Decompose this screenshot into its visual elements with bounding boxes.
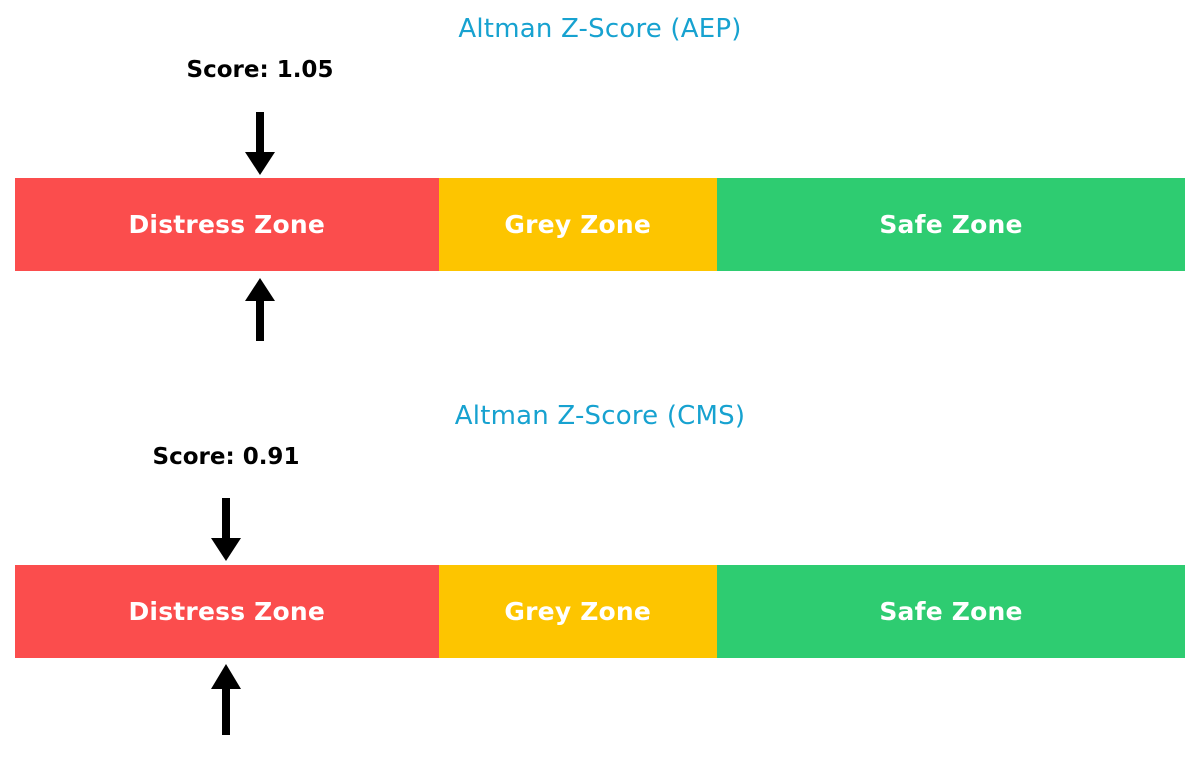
score-label-cms: Score: 0.91: [153, 444, 300, 470]
z-score-gauge-page: Altman Z-Score (AEP) Score: 1.05 Distres…: [0, 0, 1200, 774]
down-arrow-icon-cms: [209, 498, 243, 562]
zone-label-grey-cms: Grey Zone: [504, 597, 651, 626]
zone-segment-grey-aep: Grey Zone: [439, 178, 717, 271]
zone-bar-aep: Distress Zone Grey Zone Safe Zone: [15, 178, 1185, 271]
zone-segment-safe-aep: Safe Zone: [717, 178, 1185, 271]
zone-segment-grey-cms: Grey Zone: [439, 565, 717, 658]
zone-label-safe-cms: Safe Zone: [879, 597, 1022, 626]
page-title-aep: Altman Z-Score (AEP): [0, 14, 1200, 44]
zone-label-distress-aep: Distress Zone: [128, 210, 325, 239]
zone-segment-safe-cms: Safe Zone: [717, 565, 1185, 658]
zone-label-distress-cms: Distress Zone: [128, 597, 325, 626]
zone-bar-cms: Distress Zone Grey Zone Safe Zone: [15, 565, 1185, 658]
zone-label-safe-aep: Safe Zone: [879, 210, 1022, 239]
zone-segment-distress-cms: Distress Zone: [15, 565, 439, 658]
score-label-aep: Score: 1.05: [187, 57, 334, 83]
zone-label-grey-aep: Grey Zone: [504, 210, 651, 239]
up-arrow-icon-cms: [209, 663, 243, 735]
down-arrow-icon-aep: [243, 112, 277, 176]
page-title-cms: Altman Z-Score (CMS): [0, 401, 1200, 431]
up-arrow-icon-aep: [243, 277, 277, 341]
zone-segment-distress-aep: Distress Zone: [15, 178, 439, 271]
chart-panel-aep: Altman Z-Score (AEP) Score: 1.05 Distres…: [0, 0, 1200, 387]
